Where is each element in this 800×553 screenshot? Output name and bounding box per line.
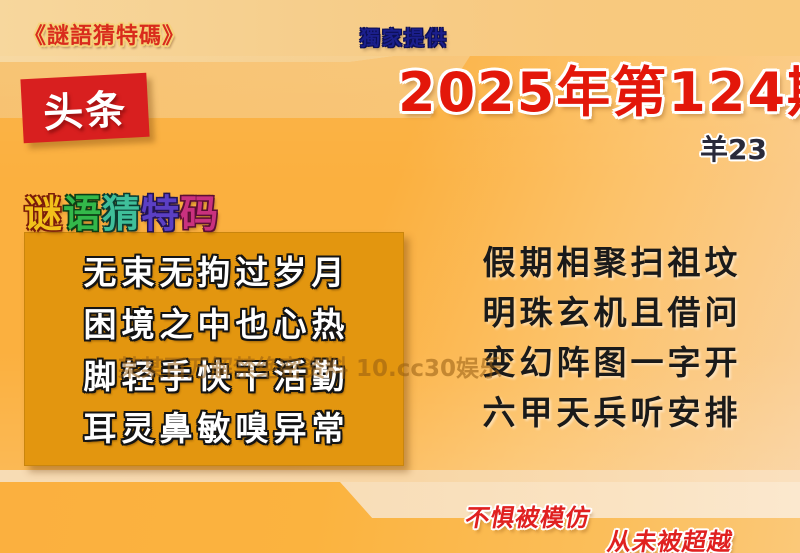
issue-title: 2025年第124期 [398,48,800,127]
rainbow-char-4: 特 [141,183,180,238]
riddle-line: 无束无拘过岁月 [25,247,403,299]
riddle-line: 困境之中也心热 [25,299,403,351]
headline-badge: 头条 [20,73,149,144]
rainbow-title: 谜语猜特码 [24,183,219,238]
rainbow-char-5: 码 [180,183,219,238]
riddle-line: 脚轻手快干活勤 [25,351,403,403]
rainbow-char-3: 猜 [102,183,141,238]
traditional-title: 《謎語猜特碼》 [24,18,185,50]
poem-block: 假期相聚扫祖坟 明珠玄机且借问 变幻阵图一字开 六甲天兵听安排 [432,238,788,438]
poem-line: 六甲天兵听安排 [432,388,788,438]
riddle-box: 无束无拘过岁月 困境之中也心热 脚轻手快干活勤 耳灵鼻敏嗅异常 [24,232,404,466]
poem-line: 明珠玄机且借问 [432,288,788,338]
slogan-right: 从未被超越 [605,522,736,553]
poster-canvas: 《謎語猜特碼》 獨家提供 2025年第124期 羊23 头条 谜语猜特码 无束无… [0,0,800,553]
rainbow-char-1: 谜 [24,183,63,238]
poem-line: 变幻阵图一字开 [432,338,788,388]
zodiac-number: 羊23 [700,128,767,168]
riddle-line: 耳灵鼻敏嗅异常 [25,403,403,455]
poem-line: 假期相聚扫祖坟 [432,238,788,288]
headline-badge-label: 头条 [42,77,129,139]
rainbow-char-2: 语 [63,183,102,238]
slogan-left: 不惧被模仿 [463,498,594,533]
exclusive-label: 獨家提供 [360,22,448,51]
